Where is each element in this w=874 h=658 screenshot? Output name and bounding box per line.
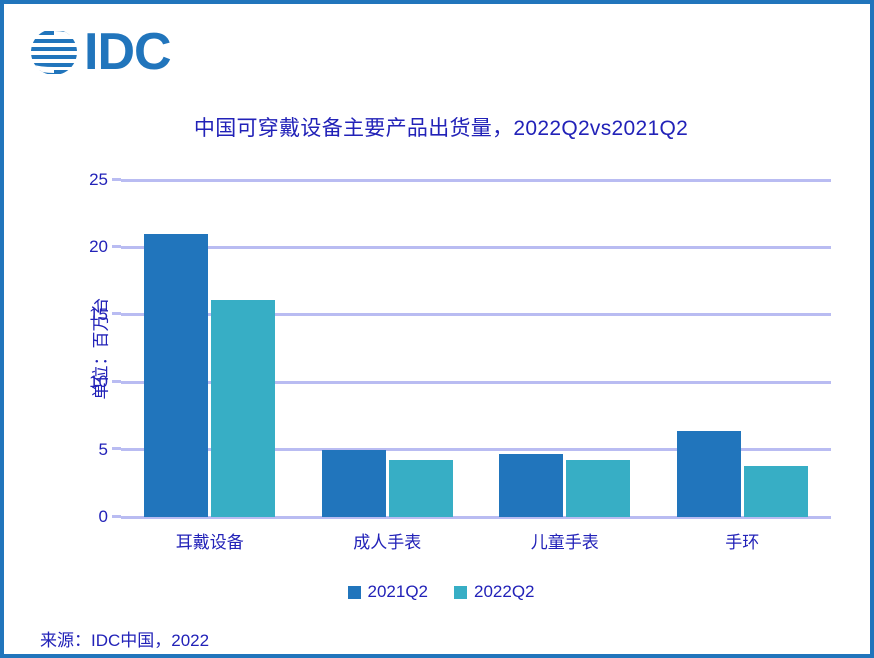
bar-group: [299, 180, 477, 517]
y-tick-mark: [112, 312, 121, 315]
y-tick-label: 0: [99, 507, 108, 527]
legend-label: 2021Q2: [368, 582, 429, 602]
x-axis-category-label: 成人手表: [299, 528, 477, 553]
legend-swatch-icon: [348, 586, 361, 599]
chart-legend: 2021Q22022Q2: [4, 582, 874, 602]
y-tick-mark: [112, 380, 121, 383]
y-tick-label: 10: [89, 372, 108, 392]
x-axis-categories: 耳戴设备成人手表儿童手表手环: [121, 528, 831, 553]
x-axis-category-label: 耳戴设备: [121, 528, 299, 553]
bar[interactable]: [144, 234, 208, 517]
y-tick-mark: [112, 515, 121, 518]
chart-page: IDC 中国可穿戴设备主要产品出货量，2022Q2vs2021Q2 单位：百万台…: [0, 0, 874, 658]
bar-group: [121, 180, 299, 517]
bar-group: [476, 180, 654, 517]
y-tick-mark: [112, 178, 121, 181]
plot-area: 0510152025: [121, 180, 831, 517]
globe-icon: [28, 26, 80, 78]
y-tick-label: 5: [99, 440, 108, 460]
y-tick-label: 25: [89, 170, 108, 190]
bar[interactable]: [322, 450, 386, 517]
logo-wordmark: IDC: [84, 26, 171, 78]
y-tick-label: 20: [89, 237, 108, 257]
bar[interactable]: [744, 466, 808, 517]
bar[interactable]: [389, 460, 453, 517]
y-tick-mark: [112, 447, 121, 450]
chart-title: 中国可穿戴设备主要产品出货量，2022Q2vs2021Q2: [4, 112, 874, 142]
idc-logo: IDC: [28, 26, 171, 78]
legend-item[interactable]: 2021Q2: [348, 582, 429, 602]
legend-item[interactable]: 2022Q2: [454, 582, 535, 602]
x-axis-category-label: 儿童手表: [476, 528, 654, 553]
bar[interactable]: [211, 300, 275, 517]
bar-group: [654, 180, 832, 517]
source-note: 来源：IDC中国，2022: [40, 626, 209, 651]
bar[interactable]: [499, 454, 563, 517]
legend-swatch-icon: [454, 586, 467, 599]
y-tick-mark: [112, 245, 121, 248]
x-axis-category-label: 手环: [654, 528, 832, 553]
bar-groups: [121, 180, 831, 517]
bar[interactable]: [677, 431, 741, 517]
y-tick-label: 15: [89, 305, 108, 325]
bar[interactable]: [566, 460, 630, 517]
legend-label: 2022Q2: [474, 582, 535, 602]
